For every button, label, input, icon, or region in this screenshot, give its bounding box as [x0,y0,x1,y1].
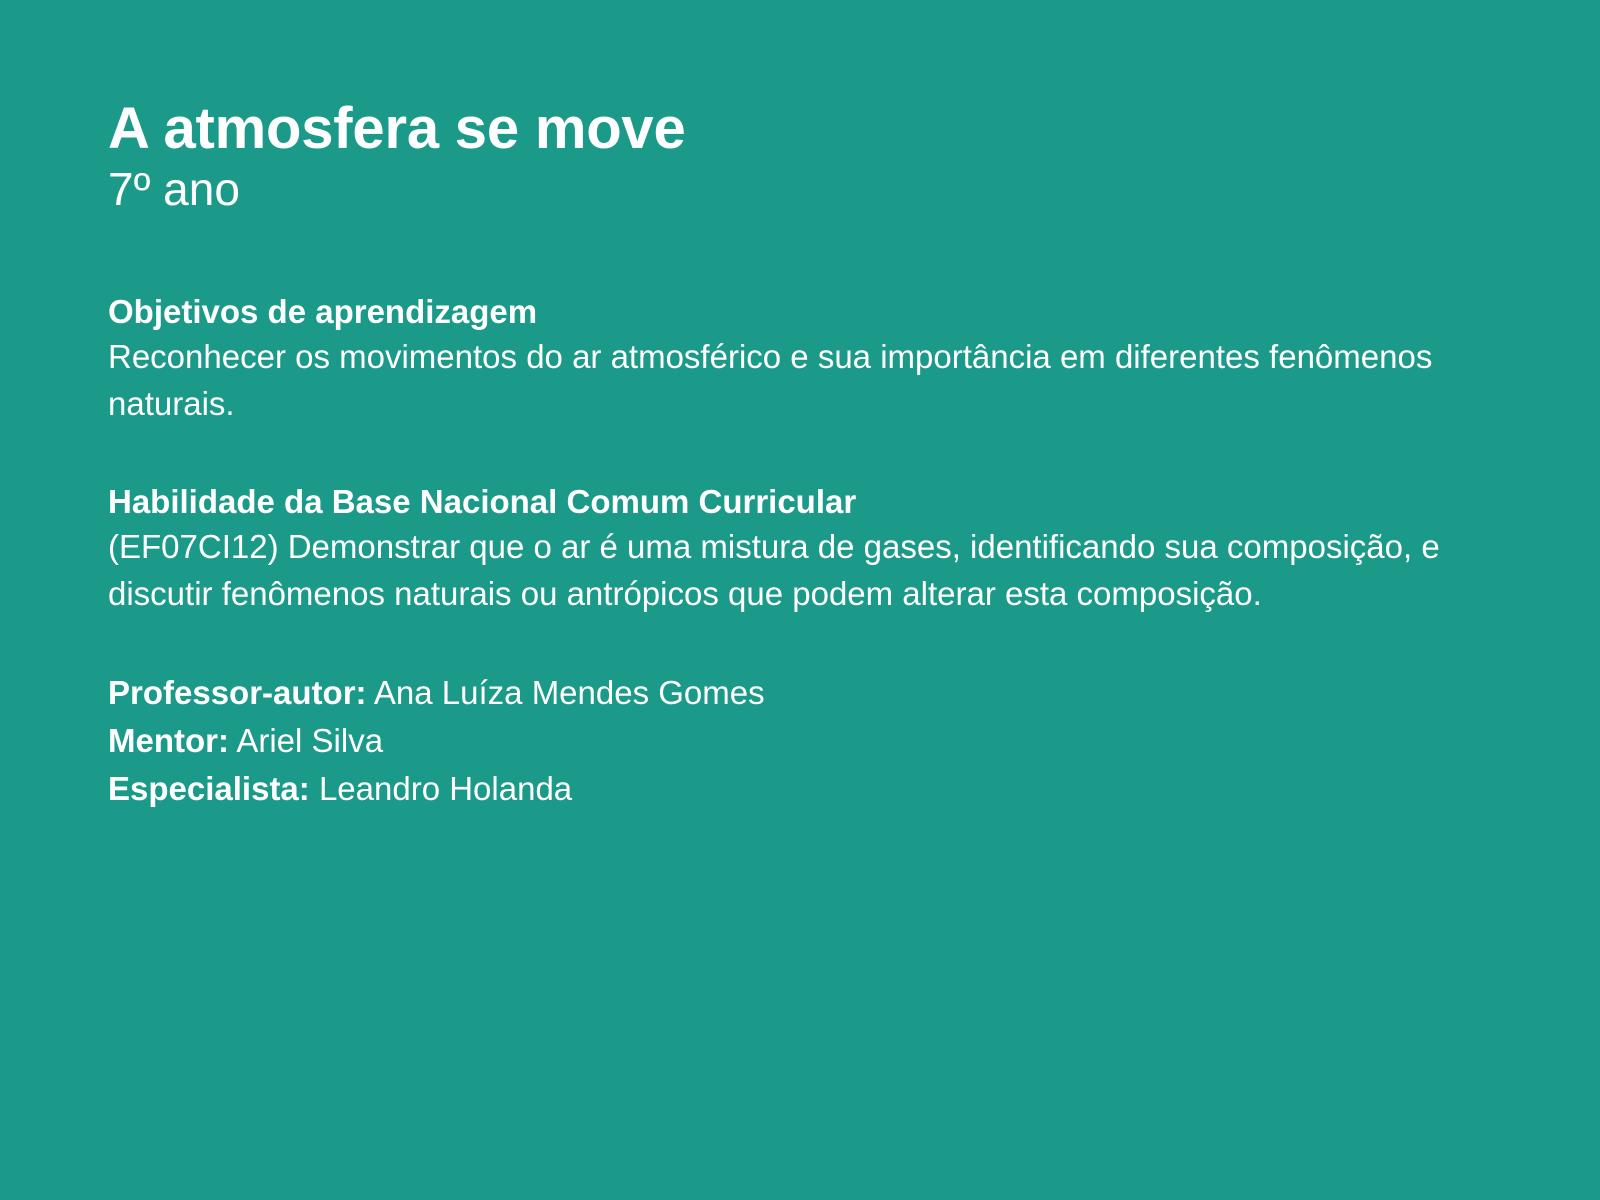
slide-content: A atmosfera se move 7º ano Objetivos de … [108,98,1508,813]
learning-objectives-heading: Objetivos de aprendizagem [108,290,1508,334]
credit-value-specialist: Leandro Holanda [319,770,572,807]
section-learning-objectives: Objetivos de aprendizagem Reconhecer os … [108,290,1508,428]
credit-label-professor: Professor-autor: [108,674,367,711]
bncc-skill-text: (EF07CI12) Demonstrar que o ar é uma mis… [108,523,1470,617]
section-bncc-skill: Habilidade da Base Nacional Comum Curric… [108,480,1508,618]
credit-value-professor: Ana Luíza Mendes Gomes [374,674,765,711]
credit-label-specialist: Especialista: [108,770,310,807]
lesson-cover-slide: A atmosfera se move 7º ano Objetivos de … [0,0,1600,1200]
credit-label-mentor: Mentor: [108,722,229,759]
bncc-skill-heading: Habilidade da Base Nacional Comum Curric… [108,480,1508,524]
credit-line-specialist: Especialista: Leandro Holanda [108,765,1508,813]
learning-objectives-text: Reconhecer os movimentos do ar atmosféri… [108,333,1468,427]
credit-value-mentor: Ariel Silva [236,722,383,759]
credit-line-mentor: Mentor: Ariel Silva [108,717,1508,765]
page-title: A atmosfera se move [108,98,1508,159]
title-block: A atmosfera se move 7º ano [108,98,1508,218]
section-credits: Professor-autor: Ana Luíza Mendes Gomes … [108,669,1508,813]
grade-level-subtitle: 7º ano [108,161,1508,217]
credit-line-professor: Professor-autor: Ana Luíza Mendes Gomes [108,669,1508,717]
